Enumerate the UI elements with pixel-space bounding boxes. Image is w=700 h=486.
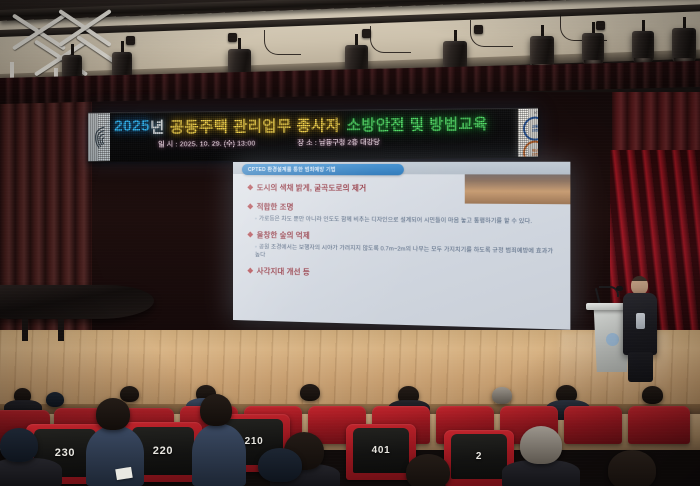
audience-person-foreground bbox=[86, 426, 144, 486]
seat bbox=[564, 406, 622, 444]
banner-title-gold: 공동주택 관리업무 종사자 bbox=[170, 114, 341, 138]
banner-title: 2025년공동주택 관리업무 종사자소방안전 및 방범교육 bbox=[114, 111, 518, 139]
light-cable bbox=[470, 20, 513, 47]
slide-header-pill: CPTED 환경설계를 통한 범죄예방 기법 bbox=[242, 164, 404, 175]
slide-heading-text: 사각지대 개선 등 bbox=[257, 266, 310, 276]
banner-subtitle-place: 장 소 : 남동구청 2층 대강당 bbox=[297, 137, 380, 152]
seat bbox=[628, 406, 690, 444]
diamond-bullet-icon: ❖ bbox=[247, 230, 254, 239]
presenter bbox=[622, 276, 662, 380]
stage-spotlight bbox=[582, 22, 604, 54]
banner-title-green: 소방안전 및 방범교육 bbox=[346, 112, 487, 135]
auditorium-photo: 2025년공동주택 관리업무 종사자소방안전 및 방범교육 일 시 : 2025… bbox=[0, 0, 700, 486]
audience-seating: 230 220 210 401 2 bbox=[0, 392, 700, 486]
light-cable bbox=[370, 26, 411, 53]
diamond-bullet-icon: ❖ bbox=[247, 202, 254, 211]
slide-subtext-text: 공원 조경에서는 보행자의 시야가 가려지지 않도록 0.7m~2m의 나무는 … bbox=[255, 244, 553, 258]
audience-head-with-cap bbox=[258, 448, 302, 482]
slide-heading-text: 도시의 색채 밝게, 굴곡도로의 제거 bbox=[257, 183, 367, 193]
audience-head bbox=[46, 392, 64, 407]
slide-heading-text: 적합한 조명 bbox=[257, 202, 294, 211]
seat-number: 2 bbox=[451, 434, 507, 479]
audience-shoulders bbox=[0, 458, 62, 486]
light-cable bbox=[264, 30, 301, 55]
banner-title-year-suffix: 년 bbox=[150, 116, 165, 138]
fingerprint-icon bbox=[88, 113, 110, 161]
audience-head bbox=[200, 394, 232, 426]
logo-circle-traffic: 교통안전 bbox=[523, 117, 538, 141]
logo-caption: 남동구 안전 브랜드 bbox=[521, 110, 538, 116]
banner-subtitle-date: 일 시 : 2025. 10. 29. (수) 13:00 bbox=[158, 139, 255, 154]
stage-spotlight bbox=[443, 30, 467, 63]
stage-spotlight bbox=[228, 38, 251, 71]
audience-head bbox=[520, 426, 562, 464]
slide-subtext-text: 가로등은 차도 뿐만 아니라 인도도 함께 비추는 디자인으로 설계되어 시민들… bbox=[259, 216, 532, 225]
audience-head bbox=[300, 384, 320, 401]
slide-subtext: ◦가로등은 차도 뿐만 아니라 인도도 함께 비추는 디자인으로 설계되어 시민… bbox=[255, 215, 559, 226]
seat-number: 401 bbox=[353, 428, 409, 473]
stage-spotlight bbox=[530, 25, 554, 58]
stage-spotlight bbox=[112, 41, 132, 71]
banner-title-year: 2025 bbox=[114, 118, 150, 136]
audience-head bbox=[608, 450, 656, 486]
audience-head-with-cap bbox=[0, 428, 38, 462]
circle-bullet-icon: ◦ bbox=[255, 216, 257, 222]
presentation-slide: CPTED 환경설계를 통한 범죄예방 기법 ❖도시의 색채 밝게, 굴곡도로의… bbox=[233, 162, 570, 330]
audience-head bbox=[406, 454, 450, 486]
grand-piano bbox=[0, 285, 158, 337]
audience-person-foreground bbox=[192, 424, 246, 486]
audience-head bbox=[642, 386, 663, 404]
audience-head bbox=[120, 386, 139, 402]
banner-subtitle: 일 시 : 2025. 10. 29. (수) 13:00 장 소 : 남동구청… bbox=[158, 136, 528, 154]
podium-emblem bbox=[606, 333, 619, 346]
stage-spotlight bbox=[345, 34, 368, 67]
stage-spotlight bbox=[632, 20, 654, 52]
audience-head bbox=[96, 398, 130, 430]
circle-bullet-icon: ◦ bbox=[255, 244, 257, 250]
district-safety-logo: 남동구 안전 브랜드 교통안전 생활안전 재난안전 범죄안전 남동구 bbox=[518, 108, 538, 159]
slide-heading-text: 울창한 숲의 억제 bbox=[257, 230, 310, 240]
led-banner: 2025년공동주택 관리업무 종사자소방안전 및 방범교육 일 시 : 2025… bbox=[88, 108, 538, 163]
slide-subtext: ◦공원 조경에서는 보행자의 시야가 가려지지 않도록 0.7m~2m의 나무는… bbox=[255, 243, 559, 264]
slide-heading: ❖적합한 조명 bbox=[247, 201, 559, 215]
audience-head bbox=[492, 387, 512, 404]
slide-body: ❖도시의 색채 밝게, 굴곡도로의 제거 ❖적합한 조명 ◦가로등은 차도 뿐만… bbox=[247, 182, 559, 286]
diamond-bullet-icon: ❖ bbox=[247, 266, 254, 275]
stage-spotlight bbox=[62, 44, 82, 74]
diamond-bullet-icon: ❖ bbox=[247, 183, 254, 192]
projection-screen: CPTED 환경설계를 통한 범죄예방 기법 ❖도시의 색채 밝게, 굴곡도로의… bbox=[233, 162, 570, 330]
slide-heading: ❖사각지대 개선 등 bbox=[247, 265, 559, 282]
stage-spotlight bbox=[672, 17, 696, 52]
slide-heading: ❖울창한 숲의 억제 bbox=[247, 229, 559, 244]
slide-heading: ❖도시의 색채 밝게, 굴곡도로의 제거 bbox=[247, 182, 559, 195]
presenter-legs bbox=[628, 352, 653, 382]
presenter-torso bbox=[623, 293, 657, 355]
